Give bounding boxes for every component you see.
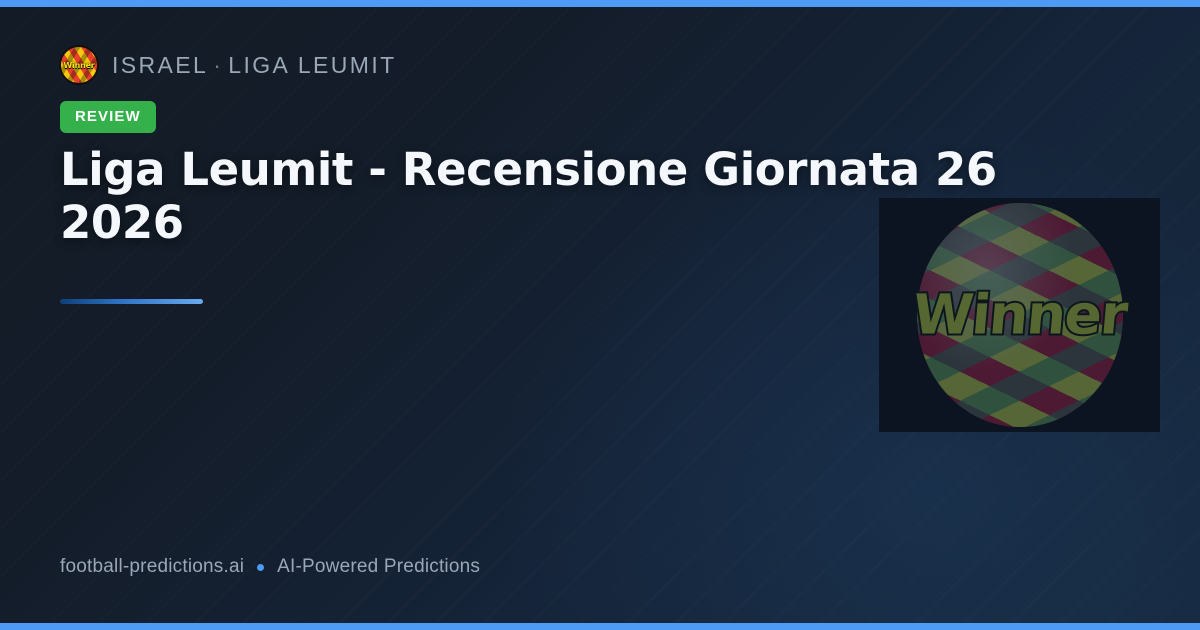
site-name: football-predictions.ai (60, 556, 244, 578)
breadcrumb-separator: · (208, 52, 228, 78)
page-title: Liga Leumit - Recensione Giornata 26 202… (60, 143, 1035, 249)
blue-dot-icon (257, 564, 264, 571)
site-tagline: AI-Powered Predictions (277, 556, 480, 578)
winner-league-badge-icon: Winner (60, 46, 98, 84)
league-breadcrumb: Winner ISRAEL·LIGA LEUMIT (60, 46, 397, 84)
country-label: ISRAEL (112, 52, 208, 78)
league-label: LIGA LEUMIT (228, 52, 396, 78)
card-content: Winner ISRAEL·LIGA LEUMIT REVIEW Liga Le… (60, 0, 900, 630)
league-breadcrumb-text: ISRAEL·LIGA LEUMIT (112, 52, 397, 79)
status-badge: REVIEW (60, 101, 156, 133)
og-share-card: Winner Winner ISRAEL·LIGA LEUMIT REVIEW … (0, 0, 1200, 630)
footer: football-predictions.ai AI-Powered Predi… (60, 556, 480, 578)
title-accent-underline (60, 299, 203, 304)
mini-winner-wordmark: Winner (60, 62, 98, 70)
